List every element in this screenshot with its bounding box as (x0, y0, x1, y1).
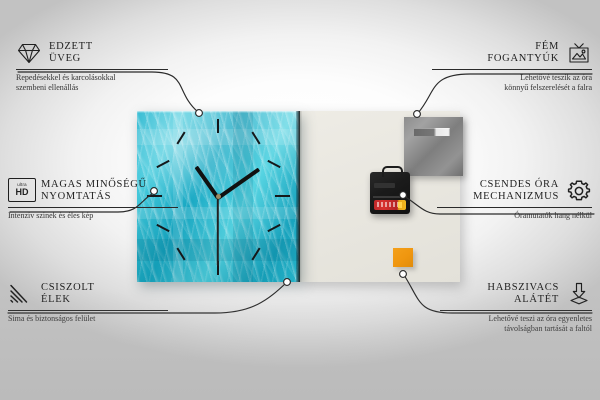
battery-label (377, 202, 399, 207)
callout-subtitle-line2: könnyű felszerelését a falra (432, 83, 592, 93)
gear-icon (566, 178, 592, 204)
infographic-stage: EDZETT ÜVEG Repedésekkel és karcolásokka… (0, 0, 600, 400)
callout-title-line2: ÉLEK (41, 294, 95, 307)
callout-head: HABSZIVACS ALÁTÉT (440, 281, 592, 307)
foam-pad-sample (393, 248, 413, 267)
callout-title-line1: FÉM (487, 41, 559, 54)
callout-subtitle-line1: Sima és biztonságos felület (8, 314, 168, 324)
callout-polished-edges[interactable]: CSISZOLT ÉLEK Sima és biztonságos felüle… (8, 281, 168, 324)
callout-metal-handles[interactable]: FÉM FOGANTYÚK Lehetővé teszik az óra kön… (432, 40, 592, 93)
callout-head: ultra HD MAGAS MINŐSÉGŰ NYOMTATÁS (8, 178, 178, 204)
callout-rule (432, 69, 592, 70)
foam-pad-arrow-icon (566, 281, 592, 307)
callout-subtitle-line1: Óramutatók hang nélkül (437, 211, 592, 221)
callout-title-line1: HABSZIVACS (487, 282, 559, 295)
feather-shadow-band (233, 111, 253, 282)
callout-head: EDZETT ÜVEG (16, 40, 168, 66)
callout-head: CSISZOLT ÉLEK (8, 281, 168, 307)
callout-tempered-glass[interactable]: EDZETT ÜVEG Repedésekkel és karcolásokka… (16, 40, 168, 93)
callout-rule (437, 207, 592, 208)
callout-rule (440, 310, 592, 311)
callout-subtitle-line1: Repedésekkel és karcolásokkal (16, 73, 168, 83)
clock-tick (217, 119, 219, 133)
picture-hanger-icon (566, 40, 592, 66)
callout-title-wrap: HABSZIVACS ALÁTÉT (487, 282, 559, 307)
mechanism-seam (373, 196, 407, 198)
callout-silent-mechanism[interactable]: CSENDES ÓRA MECHANIZMUS Óramutatók hang … (437, 178, 592, 221)
glass-top-edge (137, 111, 300, 113)
callout-title-line2: MECHANIZMUS (473, 191, 559, 204)
ultra-hd-big-label: HD (16, 188, 29, 197)
callout-rule (8, 207, 178, 208)
hanger-slot (414, 128, 450, 136)
callout-rule (16, 69, 168, 70)
callout-subtitle-line1: Lehetővé teszi az óra egyenletes (440, 314, 592, 324)
callout-title-wrap: MAGAS MINŐSÉGŰ NYOMTATÁS (41, 179, 147, 204)
callout-title-line2: ÜVEG (49, 53, 93, 66)
battery (374, 200, 406, 210)
metal-hanger-plate (404, 117, 463, 176)
callout-title-line1: EDZETT (49, 41, 93, 54)
callout-foam-pad[interactable]: HABSZIVACS ALÁTÉT Lehetővé teszi az óra … (440, 281, 592, 334)
clock-second-hand (217, 197, 219, 265)
callout-title-wrap: CSISZOLT ÉLEK (41, 282, 95, 307)
ultra-hd-box: ultra HD (8, 178, 36, 202)
clock-center-hub (216, 194, 221, 199)
clock-mechanism-box (370, 172, 410, 214)
callout-title-line2: FOGANTYÚK (487, 53, 559, 66)
polished-edges-icon (8, 281, 34, 307)
callout-subtitle-line1: Intenzív színek és éles kép (8, 211, 178, 221)
callout-head: CSENDES ÓRA MECHANIZMUS (437, 178, 592, 204)
glass-right-edge (296, 111, 300, 282)
callout-title-wrap: CSENDES ÓRA MECHANIZMUS (473, 179, 559, 204)
diamond-icon (16, 40, 42, 66)
callout-title-line1: CSISZOLT (41, 282, 95, 295)
ultra-hd-icon: ultra HD (8, 178, 34, 204)
callout-high-quality-print[interactable]: ultra HD MAGAS MINŐSÉGŰ NYOMTATÁS Intenz… (8, 178, 178, 221)
callout-title-line2: NYOMTATÁS (41, 191, 147, 204)
callout-title-line1: CSENDES ÓRA (473, 179, 559, 192)
callout-rule (8, 310, 168, 311)
callout-subtitle-line2: szembeni ellenállás (16, 83, 168, 93)
callout-head: FÉM FOGANTYÚK (432, 40, 592, 66)
callout-title-line1: MAGAS MINŐSÉGŰ (41, 179, 147, 192)
mechanism-ridge (374, 183, 395, 188)
mechanism-handle (382, 166, 403, 177)
callout-title-wrap: EDZETT ÜVEG (49, 41, 93, 66)
callout-subtitle-line2: távolságban tartását a faltól (440, 324, 592, 334)
clock-tick (275, 195, 290, 197)
callout-subtitle-line1: Lehetővé teszik az óra (432, 73, 592, 83)
callout-title-line2: ALÁTÉT (487, 294, 559, 307)
callout-title-wrap: FÉM FOGANTYÚK (487, 41, 559, 66)
